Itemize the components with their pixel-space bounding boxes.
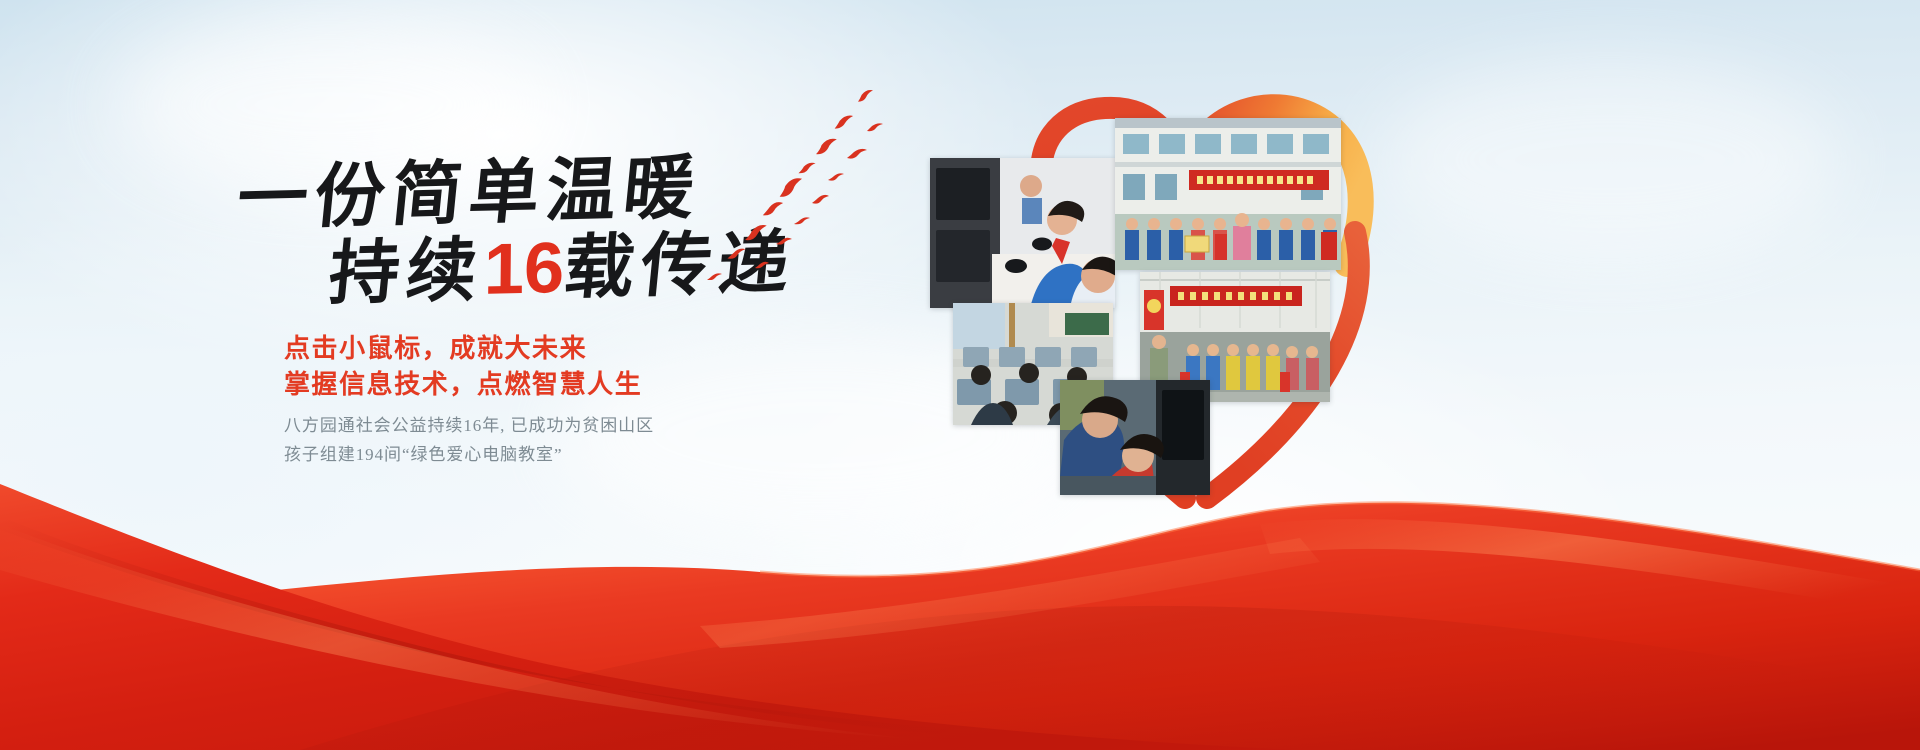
headline-line-2-prefix: 持续	[325, 233, 487, 314]
headline-line-1: 一份简单温暖	[234, 154, 704, 235]
headline-years-number: 16	[483, 232, 564, 306]
photo-students-at-computers	[930, 158, 1115, 308]
promo-banner: 一份简单温暖 持续16载传递 点击小鼠标，成就大未来 掌握信息技术，点燃智慧人生…	[0, 0, 1920, 750]
photo-donation-ceremony	[1115, 118, 1341, 270]
subtitle-line-2: 掌握信息技术，点燃智慧人生	[284, 364, 642, 401]
red-silk-wave-icon	[0, 420, 1920, 750]
subtitle-line-1: 点击小鼠标，成就大未来	[284, 328, 587, 365]
